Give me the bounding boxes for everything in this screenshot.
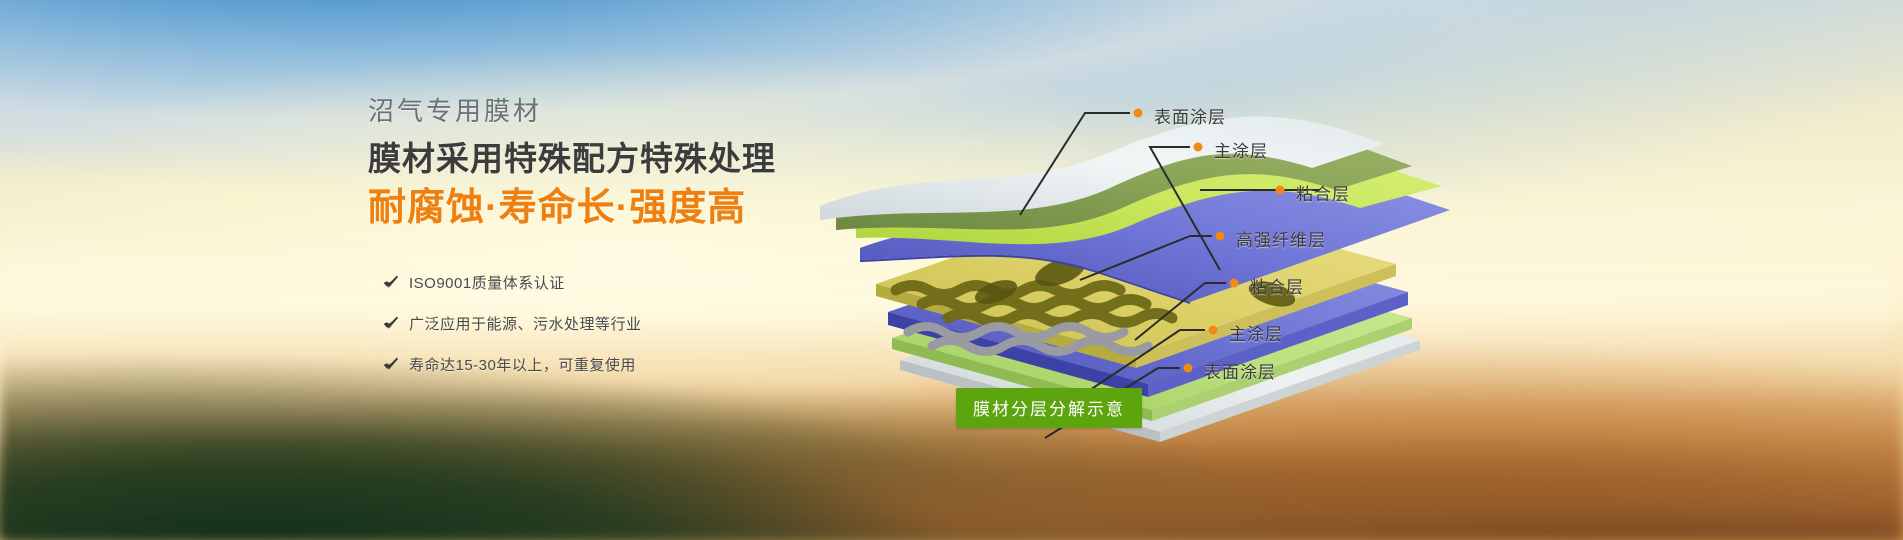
check-icon [382, 356, 399, 373]
layer-label-surface-top: 表面涂层 [1154, 103, 1226, 128]
layer-label-fiber: 高强纤维层 [1236, 226, 1326, 251]
status-badge: 膜材分层分解示意 [956, 388, 1142, 428]
leader-dot-5 [1230, 279, 1239, 288]
leader-dot-3 [1276, 186, 1285, 195]
check-icon [382, 274, 399, 291]
layer-diagram: 表面涂层 主涂层 粘合层 高强纤维层 粘合层 主涂层 表面涂层 膜材分层分解示意 [660, 40, 1903, 540]
layer-label-bond-bottom: 粘合层 [1250, 273, 1304, 298]
list-item-label: 寿命达15-30年以上，可重复使用 [409, 354, 636, 375]
leader-dot-4 [1216, 232, 1225, 241]
promo-banner: 沼气专用膜材 膜材采用特殊配方特殊处理 耐腐蚀·寿命长·强度高 ISO9001质… [0, 0, 1903, 540]
leader-dot-7 [1184, 364, 1193, 373]
layer-label-surface-bottom: 表面涂层 [1204, 358, 1276, 383]
leader-dot-2 [1194, 143, 1203, 152]
layer-label-main-coat-top: 主涂层 [1214, 137, 1268, 162]
list-item-label: ISO9001质量体系认证 [409, 272, 565, 293]
layer-label-bond-top: 粘合层 [1296, 180, 1350, 205]
leader-dot-6 [1209, 326, 1218, 335]
list-item-label: 广泛应用于能源、污水处理等行业 [409, 313, 642, 334]
check-icon [382, 315, 399, 332]
layer-label-main-coat-bottom: 主涂层 [1229, 320, 1283, 345]
leader-dot-1 [1134, 109, 1143, 118]
